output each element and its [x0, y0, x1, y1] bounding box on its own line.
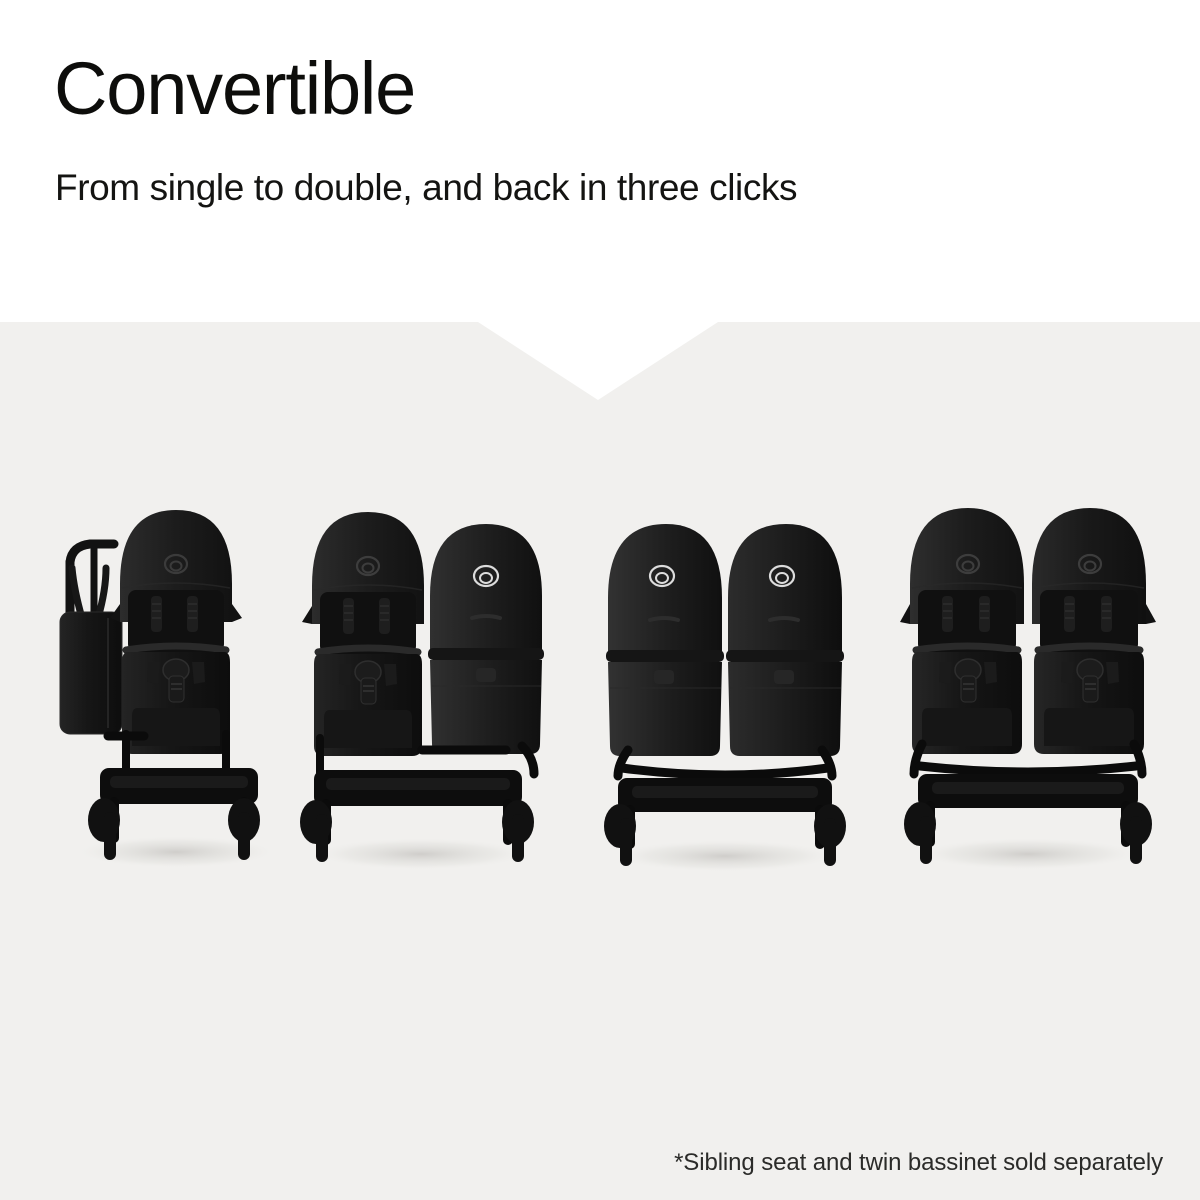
header-band: Convertible From single to double, and b…: [0, 0, 1200, 322]
ground-shadow: [916, 838, 1140, 870]
bumper-bar: [126, 646, 226, 650]
canopy-flap-left: [302, 606, 312, 624]
bumper-bar-right: [1038, 646, 1140, 650]
product-image-twin-seat[interactable]: [892, 472, 1164, 892]
page-subtitle: From single to double, and back in three…: [55, 168, 797, 209]
seat-cushion-right: [1044, 708, 1134, 746]
bassinet-rim: [428, 648, 544, 660]
canopy-flap-left: [900, 604, 910, 624]
stroller-bag: [60, 612, 122, 734]
bassinet-rim-left: [606, 650, 724, 662]
bag-straps: [72, 568, 106, 618]
hood-vent-right: [770, 618, 798, 620]
ground-shadow: [613, 840, 837, 872]
footnote-disclaimer: *Sibling seat and twin bassinet sold sep…: [674, 1149, 1163, 1177]
stroller-frame: [914, 744, 1142, 842]
bumper-bar-left: [916, 646, 1018, 650]
bassinet-hood-vent: [472, 616, 500, 618]
bassinet-hood-left: [608, 524, 722, 652]
product-image-single-stroller-with-bag[interactable]: [48, 472, 298, 892]
canopy-flap-right: [1146, 604, 1156, 624]
bassinet-handle-clip: [476, 668, 496, 682]
hood-vent-left: [650, 618, 678, 620]
seat-cushion-left: [922, 708, 1012, 746]
product-row: [0, 322, 1200, 1200]
ground-shadow: [313, 838, 529, 870]
stroller-frame: [618, 750, 832, 844]
bassinet-rim-right: [726, 650, 844, 662]
page-title: Convertible: [54, 52, 415, 126]
product-image-duo-seat-and-bassinet[interactable]: [290, 472, 552, 892]
product-feature-card: Convertible From single to double, and b…: [0, 0, 1200, 1200]
bassinet-hood-right: [728, 524, 842, 652]
bumper-bar: [318, 648, 418, 652]
seat-cushion: [324, 710, 412, 748]
bassinet-clip-right: [774, 670, 794, 684]
product-image-twin-bassinet[interactable]: [592, 472, 858, 892]
canopy-flap-right: [232, 604, 242, 622]
bassinet-clip-left: [654, 670, 674, 684]
